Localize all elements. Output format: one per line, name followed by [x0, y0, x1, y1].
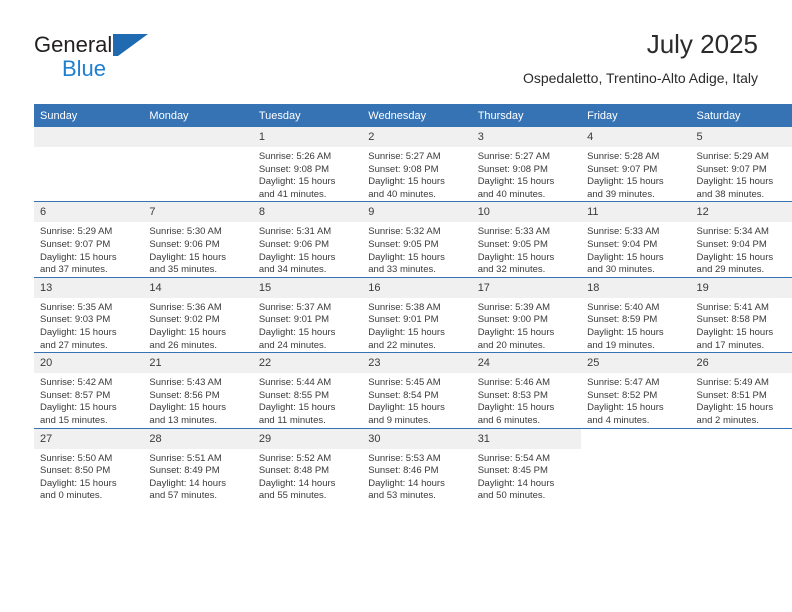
- daylight-text-line2: and 40 minutes.: [368, 189, 465, 202]
- page-header: General Blue July 2025 Ospedaletto, Tren…: [34, 28, 758, 94]
- daylight-text-line2: and 40 minutes.: [478, 189, 575, 202]
- sunrise-text: Sunrise: 5:29 AM: [40, 226, 137, 239]
- daylight-text-line2: and 9 minutes.: [368, 415, 465, 428]
- sunset-text: Sunset: 9:02 PM: [149, 314, 246, 327]
- sunset-text: Sunset: 9:05 PM: [368, 239, 465, 252]
- daylight-text-line1: Daylight: 15 hours: [259, 252, 356, 265]
- day-cell[interactable]: 28 Sunrise: 5:51 AM Sunset: 8:49 PM Dayl…: [143, 428, 252, 503]
- day-cell: [143, 127, 252, 202]
- day-cell[interactable]: 5 Sunrise: 5:29 AM Sunset: 9:07 PM Dayli…: [691, 127, 792, 202]
- sunset-text: Sunset: 8:54 PM: [368, 390, 465, 403]
- sunset-text: Sunset: 8:45 PM: [478, 465, 575, 478]
- day-cell[interactable]: 13 Sunrise: 5:35 AM Sunset: 9:03 PM Dayl…: [34, 277, 143, 352]
- sunrise-text: Sunrise: 5:32 AM: [368, 226, 465, 239]
- week-row: 1 Sunrise: 5:26 AM Sunset: 9:08 PM Dayli…: [34, 127, 792, 202]
- weekday-header-thursday: Thursday: [472, 104, 581, 127]
- day-info: Sunrise: 5:45 AM Sunset: 8:54 PM Dayligh…: [362, 373, 471, 427]
- daylight-text-line1: Daylight: 15 hours: [478, 402, 575, 415]
- week-row: 27 Sunrise: 5:50 AM Sunset: 8:50 PM Dayl…: [34, 428, 792, 503]
- daylight-text-line2: and 26 minutes.: [149, 340, 246, 353]
- day-number: 31: [472, 429, 581, 449]
- sunset-text: Sunset: 9:04 PM: [697, 239, 792, 252]
- title-block: July 2025 Ospedaletto, Trentino-Alto Adi…: [523, 28, 758, 88]
- day-info: Sunrise: 5:44 AM Sunset: 8:55 PM Dayligh…: [253, 373, 362, 427]
- day-number: [34, 127, 143, 147]
- daylight-text-line1: Daylight: 15 hours: [478, 176, 575, 189]
- logo-top-row: General: [34, 32, 234, 58]
- sunrise-text: Sunrise: 5:38 AM: [368, 302, 465, 315]
- daylight-text-line2: and 24 minutes.: [259, 340, 356, 353]
- day-info: Sunrise: 5:43 AM Sunset: 8:56 PM Dayligh…: [143, 373, 252, 427]
- sunset-text: Sunset: 9:08 PM: [478, 164, 575, 177]
- day-info: Sunrise: 5:46 AM Sunset: 8:53 PM Dayligh…: [472, 373, 581, 427]
- sunrise-text: Sunrise: 5:53 AM: [368, 453, 465, 466]
- day-number: 15: [253, 278, 362, 298]
- day-number: 5: [691, 127, 792, 147]
- daylight-text-line1: Daylight: 15 hours: [149, 402, 246, 415]
- sunrise-text: Sunrise: 5:29 AM: [697, 151, 792, 164]
- day-info: Sunrise: 5:37 AM Sunset: 9:01 PM Dayligh…: [253, 298, 362, 352]
- general-blue-logo[interactable]: General Blue: [34, 32, 234, 88]
- calendar-head: Sunday Monday Tuesday Wednesday Thursday…: [34, 104, 792, 127]
- daylight-text-line2: and 37 minutes.: [40, 264, 137, 277]
- week-row: 6 Sunrise: 5:29 AM Sunset: 9:07 PM Dayli…: [34, 202, 792, 277]
- day-info: Sunrise: 5:52 AM Sunset: 8:48 PM Dayligh…: [253, 449, 362, 503]
- weekday-header-sunday: Sunday: [34, 104, 143, 127]
- day-cell[interactable]: 3 Sunrise: 5:27 AM Sunset: 9:08 PM Dayli…: [472, 127, 581, 202]
- day-number: 18: [581, 278, 690, 298]
- sunset-text: Sunset: 8:49 PM: [149, 465, 246, 478]
- sunset-text: Sunset: 8:56 PM: [149, 390, 246, 403]
- day-number: 13: [34, 278, 143, 298]
- day-cell[interactable]: 2 Sunrise: 5:27 AM Sunset: 9:08 PM Dayli…: [362, 127, 471, 202]
- sunset-text: Sunset: 9:00 PM: [478, 314, 575, 327]
- day-number: 24: [472, 353, 581, 373]
- daylight-text-line2: and 30 minutes.: [587, 264, 684, 277]
- daylight-text-line2: and 19 minutes.: [587, 340, 684, 353]
- day-info: Sunrise: 5:36 AM Sunset: 9:02 PM Dayligh…: [143, 298, 252, 352]
- daylight-text-line1: Daylight: 15 hours: [587, 252, 684, 265]
- daylight-text-line1: Daylight: 15 hours: [478, 252, 575, 265]
- sunrise-text: Sunrise: 5:34 AM: [697, 226, 792, 239]
- sunrise-text: Sunrise: 5:27 AM: [478, 151, 575, 164]
- daylight-text-line1: Daylight: 14 hours: [478, 478, 575, 491]
- sunrise-text: Sunrise: 5:41 AM: [697, 302, 792, 315]
- week-row: 13 Sunrise: 5:35 AM Sunset: 9:03 PM Dayl…: [34, 277, 792, 352]
- daylight-text-line1: Daylight: 15 hours: [259, 327, 356, 340]
- sunrise-text: Sunrise: 5:46 AM: [478, 377, 575, 390]
- sunset-text: Sunset: 9:01 PM: [259, 314, 356, 327]
- day-number: 20: [34, 353, 143, 373]
- daylight-text-line1: Daylight: 15 hours: [40, 327, 137, 340]
- daylight-text-line1: Daylight: 15 hours: [259, 402, 356, 415]
- day-info: Sunrise: 5:27 AM Sunset: 9:08 PM Dayligh…: [472, 147, 581, 201]
- daylight-text-line1: Daylight: 15 hours: [697, 402, 792, 415]
- daylight-text-line2: and 57 minutes.: [149, 490, 246, 503]
- day-cell[interactable]: 31 Sunrise: 5:54 AM Sunset: 8:45 PM Dayl…: [472, 428, 581, 503]
- day-info: Sunrise: 5:38 AM Sunset: 9:01 PM Dayligh…: [362, 298, 471, 352]
- sunrise-text: Sunrise: 5:28 AM: [587, 151, 684, 164]
- day-cell[interactable]: 19 Sunrise: 5:41 AM Sunset: 8:58 PM Dayl…: [691, 277, 792, 352]
- day-info: Sunrise: 5:51 AM Sunset: 8:49 PM Dayligh…: [143, 449, 252, 503]
- day-info: [34, 147, 143, 151]
- daylight-text-line2: and 41 minutes.: [259, 189, 356, 202]
- daylight-text-line1: Daylight: 15 hours: [697, 327, 792, 340]
- sunset-text: Sunset: 9:06 PM: [259, 239, 356, 252]
- day-info: Sunrise: 5:50 AM Sunset: 8:50 PM Dayligh…: [34, 449, 143, 503]
- sunset-text: Sunset: 8:58 PM: [697, 314, 792, 327]
- page-title: July 2025: [523, 28, 758, 60]
- day-cell: [34, 127, 143, 202]
- day-number: 14: [143, 278, 252, 298]
- sunset-text: Sunset: 9:03 PM: [40, 314, 137, 327]
- day-number: 3: [472, 127, 581, 147]
- day-info: Sunrise: 5:31 AM Sunset: 9:06 PM Dayligh…: [253, 222, 362, 276]
- day-cell[interactable]: 6 Sunrise: 5:29 AM Sunset: 9:07 PM Dayli…: [34, 202, 143, 277]
- daylight-text-line2: and 4 minutes.: [587, 415, 684, 428]
- sunset-text: Sunset: 8:51 PM: [697, 390, 792, 403]
- daylight-text-line2: and 35 minutes.: [149, 264, 246, 277]
- sunset-text: Sunset: 8:59 PM: [587, 314, 684, 327]
- daylight-text-line1: Daylight: 15 hours: [587, 327, 684, 340]
- sunset-text: Sunset: 8:53 PM: [478, 390, 575, 403]
- weekday-header-monday: Monday: [143, 104, 252, 127]
- day-number: [691, 429, 792, 449]
- daylight-text-line1: Daylight: 15 hours: [149, 252, 246, 265]
- daylight-text-line1: Daylight: 14 hours: [259, 478, 356, 491]
- sunset-text: Sunset: 8:52 PM: [587, 390, 684, 403]
- day-number: 23: [362, 353, 471, 373]
- day-info: [143, 147, 252, 151]
- sunset-text: Sunset: 9:01 PM: [368, 314, 465, 327]
- sunrise-text: Sunrise: 5:35 AM: [40, 302, 137, 315]
- sunrise-text: Sunrise: 5:52 AM: [259, 453, 356, 466]
- day-number: 29: [253, 429, 362, 449]
- day-info: Sunrise: 5:40 AM Sunset: 8:59 PM Dayligh…: [581, 298, 690, 352]
- sunrise-text: Sunrise: 5:37 AM: [259, 302, 356, 315]
- logo-text-general: General: [34, 32, 112, 57]
- day-number: 2: [362, 127, 471, 147]
- daylight-text-line1: Daylight: 14 hours: [368, 478, 465, 491]
- sail-triangle-icon: [113, 34, 151, 56]
- sunset-text: Sunset: 9:04 PM: [587, 239, 684, 252]
- daylight-text-line2: and 55 minutes.: [259, 490, 356, 503]
- sunset-text: Sunset: 8:46 PM: [368, 465, 465, 478]
- day-cell[interactable]: 27 Sunrise: 5:50 AM Sunset: 8:50 PM Dayl…: [34, 428, 143, 503]
- day-cell[interactable]: 9 Sunrise: 5:32 AM Sunset: 9:05 PM Dayli…: [362, 202, 471, 277]
- daylight-text-line1: Daylight: 15 hours: [368, 327, 465, 340]
- day-cell: [691, 428, 792, 503]
- daylight-text-line1: Daylight: 15 hours: [368, 402, 465, 415]
- day-number: 28: [143, 429, 252, 449]
- sunset-text: Sunset: 8:50 PM: [40, 465, 137, 478]
- sunrise-text: Sunrise: 5:43 AM: [149, 377, 246, 390]
- day-info: Sunrise: 5:27 AM Sunset: 9:08 PM Dayligh…: [362, 147, 471, 201]
- day-info: Sunrise: 5:32 AM Sunset: 9:05 PM Dayligh…: [362, 222, 471, 276]
- sunset-text: Sunset: 8:55 PM: [259, 390, 356, 403]
- sunset-text: Sunset: 9:05 PM: [478, 239, 575, 252]
- day-number: 9: [362, 202, 471, 222]
- day-cell[interactable]: 15 Sunrise: 5:37 AM Sunset: 9:01 PM Dayl…: [253, 277, 362, 352]
- daylight-text-line2: and 38 minutes.: [697, 189, 792, 202]
- day-info: Sunrise: 5:33 AM Sunset: 9:05 PM Dayligh…: [472, 222, 581, 276]
- logo-text-blue: Blue: [62, 56, 106, 81]
- daylight-text-line1: Daylight: 15 hours: [368, 252, 465, 265]
- sunrise-text: Sunrise: 5:33 AM: [587, 226, 684, 239]
- day-info: [581, 449, 690, 453]
- day-info: Sunrise: 5:41 AM Sunset: 8:58 PM Dayligh…: [691, 298, 792, 352]
- daylight-text-line2: and 15 minutes.: [40, 415, 137, 428]
- day-cell[interactable]: 14 Sunrise: 5:36 AM Sunset: 9:02 PM Dayl…: [143, 277, 252, 352]
- weekday-header-tuesday: Tuesday: [253, 104, 362, 127]
- daylight-text-line1: Daylight: 15 hours: [149, 327, 246, 340]
- day-number: 8: [253, 202, 362, 222]
- sunset-text: Sunset: 9:06 PM: [149, 239, 246, 252]
- daylight-text-line1: Daylight: 15 hours: [587, 176, 684, 189]
- day-cell[interactable]: 1 Sunrise: 5:26 AM Sunset: 9:08 PM Dayli…: [253, 127, 362, 202]
- day-number: 27: [34, 429, 143, 449]
- daylight-text-line1: Daylight: 14 hours: [149, 478, 246, 491]
- day-number: 6: [34, 202, 143, 222]
- sunrise-text: Sunrise: 5:54 AM: [478, 453, 575, 466]
- day-number: 11: [581, 202, 690, 222]
- daylight-text-line2: and 39 minutes.: [587, 189, 684, 202]
- sunrise-text: Sunrise: 5:36 AM: [149, 302, 246, 315]
- day-info: Sunrise: 5:30 AM Sunset: 9:06 PM Dayligh…: [143, 222, 252, 276]
- day-info: Sunrise: 5:49 AM Sunset: 8:51 PM Dayligh…: [691, 373, 792, 427]
- daylight-text-line2: and 22 minutes.: [368, 340, 465, 353]
- sunrise-text: Sunrise: 5:31 AM: [259, 226, 356, 239]
- day-info: Sunrise: 5:26 AM Sunset: 9:08 PM Dayligh…: [253, 147, 362, 201]
- day-number: 21: [143, 353, 252, 373]
- day-info: Sunrise: 5:53 AM Sunset: 8:46 PM Dayligh…: [362, 449, 471, 503]
- day-cell[interactable]: 21 Sunrise: 5:43 AM Sunset: 8:56 PM Dayl…: [143, 353, 252, 428]
- day-cell[interactable]: 12 Sunrise: 5:34 AM Sunset: 9:04 PM Dayl…: [691, 202, 792, 277]
- daylight-text-line1: Daylight: 15 hours: [697, 176, 792, 189]
- day-number: 4: [581, 127, 690, 147]
- weekday-header-row: Sunday Monday Tuesday Wednesday Thursday…: [34, 104, 792, 127]
- sunrise-text: Sunrise: 5:33 AM: [478, 226, 575, 239]
- page-subtitle: Ospedaletto, Trentino-Alto Adige, Italy: [523, 68, 758, 88]
- day-number: 7: [143, 202, 252, 222]
- sunrise-text: Sunrise: 5:30 AM: [149, 226, 246, 239]
- weekday-header-friday: Friday: [581, 104, 690, 127]
- day-info: Sunrise: 5:47 AM Sunset: 8:52 PM Dayligh…: [581, 373, 690, 427]
- day-number: [143, 127, 252, 147]
- day-info: Sunrise: 5:35 AM Sunset: 9:03 PM Dayligh…: [34, 298, 143, 352]
- calendar-table-wrapper: Sunday Monday Tuesday Wednesday Thursday…: [34, 104, 758, 503]
- day-info: Sunrise: 5:33 AM Sunset: 9:04 PM Dayligh…: [581, 222, 690, 276]
- day-cell[interactable]: 7 Sunrise: 5:30 AM Sunset: 9:06 PM Dayli…: [143, 202, 252, 277]
- daylight-text-line2: and 32 minutes.: [478, 264, 575, 277]
- daylight-text-line2: and 11 minutes.: [259, 415, 356, 428]
- day-cell: [581, 428, 690, 503]
- day-info: Sunrise: 5:28 AM Sunset: 9:07 PM Dayligh…: [581, 147, 690, 201]
- daylight-text-line1: Daylight: 15 hours: [697, 252, 792, 265]
- day-number: 10: [472, 202, 581, 222]
- day-cell[interactable]: 8 Sunrise: 5:31 AM Sunset: 9:06 PM Dayli…: [253, 202, 362, 277]
- sunrise-text: Sunrise: 5:44 AM: [259, 377, 356, 390]
- daylight-text-line2: and 34 minutes.: [259, 264, 356, 277]
- sunrise-text: Sunrise: 5:40 AM: [587, 302, 684, 315]
- sunset-text: Sunset: 9:07 PM: [40, 239, 137, 252]
- sunset-text: Sunset: 9:08 PM: [368, 164, 465, 177]
- sunset-text: Sunset: 9:08 PM: [259, 164, 356, 177]
- day-info: Sunrise: 5:34 AM Sunset: 9:04 PM Dayligh…: [691, 222, 792, 276]
- sunrise-text: Sunrise: 5:26 AM: [259, 151, 356, 164]
- daylight-text-line1: Daylight: 15 hours: [587, 402, 684, 415]
- sunset-text: Sunset: 8:57 PM: [40, 390, 137, 403]
- day-cell[interactable]: 29 Sunrise: 5:52 AM Sunset: 8:48 PM Dayl…: [253, 428, 362, 503]
- sunrise-text: Sunrise: 5:42 AM: [40, 377, 137, 390]
- daylight-text-line2: and 20 minutes.: [478, 340, 575, 353]
- daylight-text-line1: Daylight: 15 hours: [40, 252, 137, 265]
- daylight-text-line2: and 2 minutes.: [697, 415, 792, 428]
- daylight-text-line2: and 50 minutes.: [478, 490, 575, 503]
- day-cell[interactable]: 4 Sunrise: 5:28 AM Sunset: 9:07 PM Dayli…: [581, 127, 690, 202]
- daylight-text-line1: Daylight: 15 hours: [259, 176, 356, 189]
- sunrise-text: Sunrise: 5:39 AM: [478, 302, 575, 315]
- day-cell[interactable]: 18 Sunrise: 5:40 AM Sunset: 8:59 PM Dayl…: [581, 277, 690, 352]
- daylight-text-line2: and 27 minutes.: [40, 340, 137, 353]
- day-number: 12: [691, 202, 792, 222]
- day-cell[interactable]: 20 Sunrise: 5:42 AM Sunset: 8:57 PM Dayl…: [34, 353, 143, 428]
- daylight-text-line2: and 29 minutes.: [697, 264, 792, 277]
- daylight-text-line2: and 33 minutes.: [368, 264, 465, 277]
- daylight-text-line1: Daylight: 15 hours: [40, 402, 137, 415]
- logo-bottom-row: Blue: [62, 56, 234, 82]
- sunset-text: Sunset: 9:07 PM: [587, 164, 684, 177]
- calendar-page: General Blue July 2025 Ospedaletto, Tren…: [0, 0, 792, 612]
- sunrise-text: Sunrise: 5:50 AM: [40, 453, 137, 466]
- sunrise-sunset-calendar: Sunday Monday Tuesday Wednesday Thursday…: [34, 104, 792, 503]
- day-number: 26: [691, 353, 792, 373]
- day-info: Sunrise: 5:29 AM Sunset: 9:07 PM Dayligh…: [34, 222, 143, 276]
- day-cell[interactable]: 10 Sunrise: 5:33 AM Sunset: 9:05 PM Dayl…: [472, 202, 581, 277]
- daylight-text-line1: Daylight: 15 hours: [40, 478, 137, 491]
- day-cell[interactable]: 26 Sunrise: 5:49 AM Sunset: 8:51 PM Dayl…: [691, 353, 792, 428]
- day-cell[interactable]: 24 Sunrise: 5:46 AM Sunset: 8:53 PM Dayl…: [472, 353, 581, 428]
- daylight-text-line2: and 17 minutes.: [697, 340, 792, 353]
- daylight-text-line2: and 13 minutes.: [149, 415, 246, 428]
- sunrise-text: Sunrise: 5:45 AM: [368, 377, 465, 390]
- day-cell[interactable]: 17 Sunrise: 5:39 AM Sunset: 9:00 PM Dayl…: [472, 277, 581, 352]
- daylight-text-line2: and 6 minutes.: [478, 415, 575, 428]
- day-number: [581, 429, 690, 449]
- day-info: Sunrise: 5:54 AM Sunset: 8:45 PM Dayligh…: [472, 449, 581, 503]
- day-cell[interactable]: 11 Sunrise: 5:33 AM Sunset: 9:04 PM Dayl…: [581, 202, 690, 277]
- day-info: Sunrise: 5:39 AM Sunset: 9:00 PM Dayligh…: [472, 298, 581, 352]
- day-cell[interactable]: 16 Sunrise: 5:38 AM Sunset: 9:01 PM Dayl…: [362, 277, 471, 352]
- weekday-header-wednesday: Wednesday: [362, 104, 471, 127]
- day-number: 17: [472, 278, 581, 298]
- sunset-text: Sunset: 9:07 PM: [697, 164, 792, 177]
- sunrise-text: Sunrise: 5:49 AM: [697, 377, 792, 390]
- sunrise-text: Sunrise: 5:51 AM: [149, 453, 246, 466]
- day-cell[interactable]: 22 Sunrise: 5:44 AM Sunset: 8:55 PM Dayl…: [253, 353, 362, 428]
- day-number: 25: [581, 353, 690, 373]
- day-number: 1: [253, 127, 362, 147]
- sunrise-text: Sunrise: 5:27 AM: [368, 151, 465, 164]
- day-cell[interactable]: 25 Sunrise: 5:47 AM Sunset: 8:52 PM Dayl…: [581, 353, 690, 428]
- day-cell[interactable]: 30 Sunrise: 5:53 AM Sunset: 8:46 PM Dayl…: [362, 428, 471, 503]
- daylight-text-line2: and 0 minutes.: [40, 490, 137, 503]
- day-number: 16: [362, 278, 471, 298]
- day-cell[interactable]: 23 Sunrise: 5:45 AM Sunset: 8:54 PM Dayl…: [362, 353, 471, 428]
- weekday-header-saturday: Saturday: [691, 104, 792, 127]
- day-number: 19: [691, 278, 792, 298]
- daylight-text-line1: Daylight: 15 hours: [368, 176, 465, 189]
- sunset-text: Sunset: 8:48 PM: [259, 465, 356, 478]
- daylight-text-line1: Daylight: 15 hours: [478, 327, 575, 340]
- day-info: Sunrise: 5:29 AM Sunset: 9:07 PM Dayligh…: [691, 147, 792, 201]
- day-number: 30: [362, 429, 471, 449]
- day-info: Sunrise: 5:42 AM Sunset: 8:57 PM Dayligh…: [34, 373, 143, 427]
- day-info: [691, 449, 792, 453]
- week-row: 20 Sunrise: 5:42 AM Sunset: 8:57 PM Dayl…: [34, 353, 792, 428]
- day-number: 22: [253, 353, 362, 373]
- daylight-text-line2: and 53 minutes.: [368, 490, 465, 503]
- calendar-body: 1 Sunrise: 5:26 AM Sunset: 9:08 PM Dayli…: [34, 127, 792, 503]
- sunrise-text: Sunrise: 5:47 AM: [587, 377, 684, 390]
